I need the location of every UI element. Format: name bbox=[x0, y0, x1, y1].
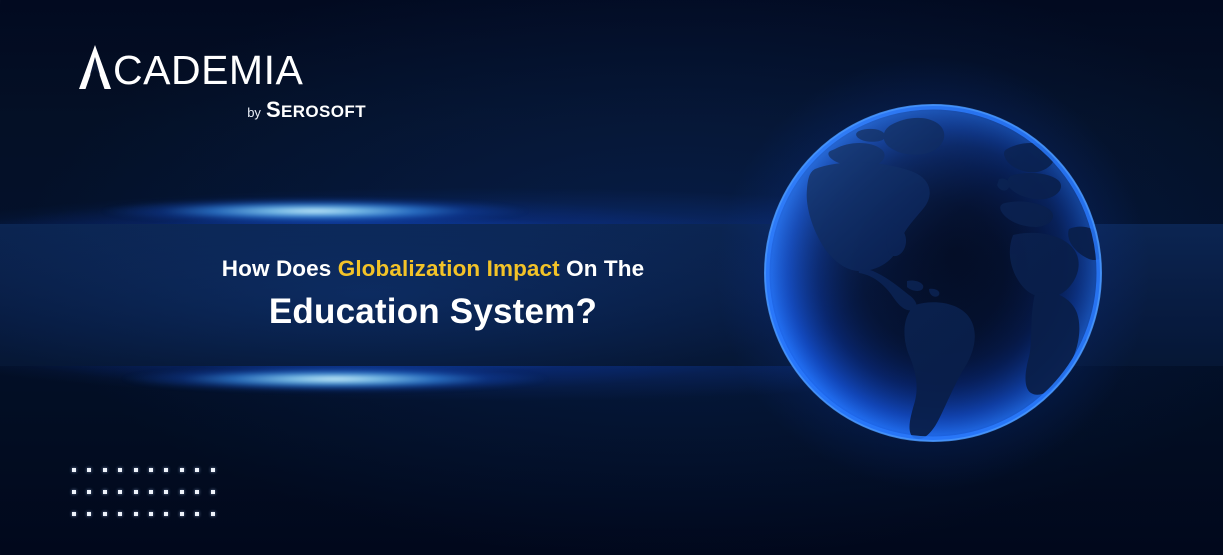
logo-brand-rest: EROSOFT bbox=[281, 102, 366, 121]
grid-dot bbox=[180, 490, 184, 494]
grid-dot bbox=[103, 468, 107, 472]
grid-dot bbox=[87, 512, 91, 516]
dot-grid-decoration bbox=[72, 468, 226, 534]
logo-brand-name: SEROSOFT bbox=[266, 97, 366, 123]
grid-dot bbox=[118, 490, 122, 494]
bottom-streak-core bbox=[120, 366, 550, 392]
grid-dot bbox=[164, 512, 168, 516]
headline: How Does Globalization Impact On The Edu… bbox=[0, 256, 866, 332]
grid-dot bbox=[195, 512, 199, 516]
academia-chevron-a-icon bbox=[78, 44, 112, 90]
grid-dot bbox=[118, 468, 122, 472]
logo-brand-initial: S bbox=[266, 97, 281, 122]
promo-banner: CADEMIA by SEROSOFT How Does Globalizati… bbox=[0, 0, 1223, 555]
grid-dot bbox=[180, 512, 184, 516]
grid-dot bbox=[211, 512, 215, 516]
grid-dot bbox=[134, 468, 138, 472]
headline-line-2: Education System? bbox=[0, 292, 866, 332]
grid-dot bbox=[149, 490, 153, 494]
grid-dot bbox=[103, 490, 107, 494]
grid-dot bbox=[195, 490, 199, 494]
top-streak-core bbox=[100, 198, 530, 224]
grid-dot bbox=[72, 490, 76, 494]
logo-byline: by SEROSOFT bbox=[78, 97, 368, 123]
headline-line-1: How Does Globalization Impact On The bbox=[0, 256, 866, 282]
grid-dot bbox=[164, 490, 168, 494]
logo-wordmark-row: CADEMIA bbox=[78, 44, 368, 90]
grid-dot bbox=[103, 512, 107, 516]
grid-dot bbox=[211, 468, 215, 472]
grid-dot bbox=[149, 468, 153, 472]
headline-highlight: Globalization Impact bbox=[338, 256, 560, 281]
logo-by-label: by bbox=[247, 105, 261, 120]
grid-dot bbox=[180, 468, 184, 472]
grid-dot bbox=[195, 468, 199, 472]
grid-dot bbox=[87, 490, 91, 494]
grid-dot bbox=[134, 512, 138, 516]
grid-dot bbox=[118, 512, 122, 516]
grid-dot bbox=[72, 468, 76, 472]
grid-dot bbox=[134, 490, 138, 494]
grid-dot bbox=[164, 468, 168, 472]
headline-line1-part2: On The bbox=[560, 256, 644, 281]
grid-dot bbox=[87, 468, 91, 472]
headline-line1-part1: How Does bbox=[222, 256, 338, 281]
grid-dot bbox=[149, 512, 153, 516]
academia-logo[interactable]: CADEMIA by SEROSOFT bbox=[78, 44, 368, 123]
grid-dot bbox=[211, 490, 215, 494]
logo-wordmark-text: CADEMIA bbox=[113, 50, 303, 91]
grid-dot bbox=[72, 512, 76, 516]
